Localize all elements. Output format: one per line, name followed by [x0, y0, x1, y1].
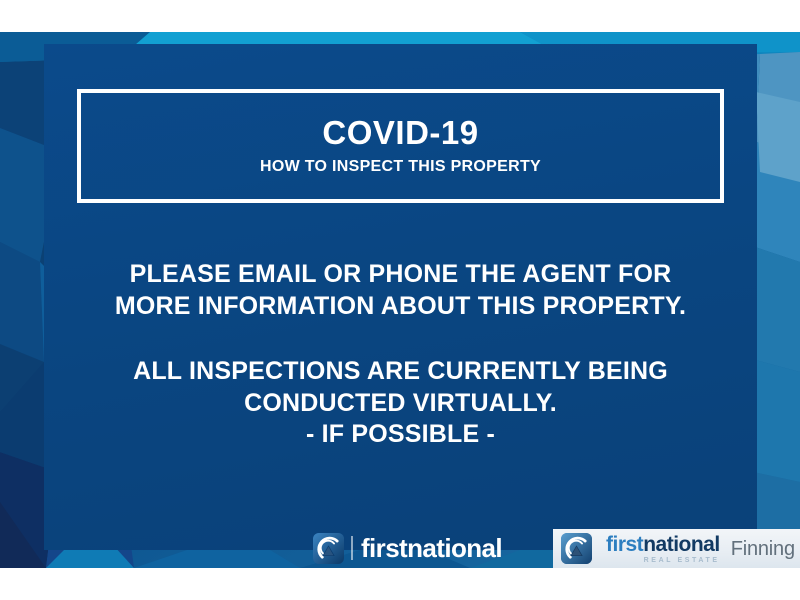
- page-title: COVID-19: [322, 116, 478, 151]
- page-subtitle: HOW TO INSPECT THIS PROPERTY: [260, 158, 541, 176]
- paragraph-2-line-3: - IF POSSIBLE -: [84, 419, 717, 451]
- paragraph-2-line-2: CONDUCTED VIRTUALLY.: [84, 388, 717, 420]
- slide-canvas: COVID-19 HOW TO INSPECT THIS PROPERTY PL…: [0, 0, 800, 600]
- office-name: Finning: [731, 539, 795, 559]
- brand-wordmark: firstnational: [361, 535, 502, 561]
- logo-divider: [351, 536, 353, 560]
- paragraph-spacer: [84, 322, 717, 356]
- paragraph-1-line-1: PLEASE EMAIL OR PHONE THE AGENT FOR: [84, 259, 717, 291]
- office-tagline: REAL ESTATE: [606, 557, 720, 564]
- office-wordmark: firstnational: [606, 534, 720, 555]
- office-wordmark-block: firstnational REAL ESTATE: [606, 534, 720, 564]
- office-wordmark-first: first: [606, 533, 643, 556]
- office-wordmark-national: national: [643, 533, 720, 556]
- firstnational-swirl-icon: [561, 533, 592, 564]
- notice-paragraph-1: PLEASE EMAIL OR PHONE THE AGENT FOR MORE…: [84, 259, 717, 322]
- footer-logo-bar: firstnational: [0, 528, 800, 568]
- notice-paragraph-2: ALL INSPECTIONS ARE CURRENTLY BEING COND…: [84, 356, 717, 451]
- main-navy-panel: COVID-19 HOW TO INSPECT THIS PROPERTY PL…: [44, 44, 757, 550]
- office-mark-wrap: [561, 533, 592, 564]
- notice-body: PLEASE EMAIL OR PHONE THE AGENT FOR MORE…: [84, 259, 717, 451]
- paragraph-2-line-1: ALL INSPECTIONS ARE CURRENTLY BEING: [84, 356, 717, 388]
- header-frame: COVID-19 HOW TO INSPECT THIS PROPERTY: [77, 89, 724, 203]
- paragraph-1-line-2: MORE INFORMATION ABOUT THIS PROPERTY.: [84, 291, 717, 323]
- brand-logo-primary: firstnational: [313, 532, 502, 564]
- firstnational-swirl-icon: [313, 533, 344, 564]
- brand-logo-office: firstnational REAL ESTATE Finning: [553, 529, 800, 568]
- slide-artwork: COVID-19 HOW TO INSPECT THIS PROPERTY PL…: [0, 32, 800, 568]
